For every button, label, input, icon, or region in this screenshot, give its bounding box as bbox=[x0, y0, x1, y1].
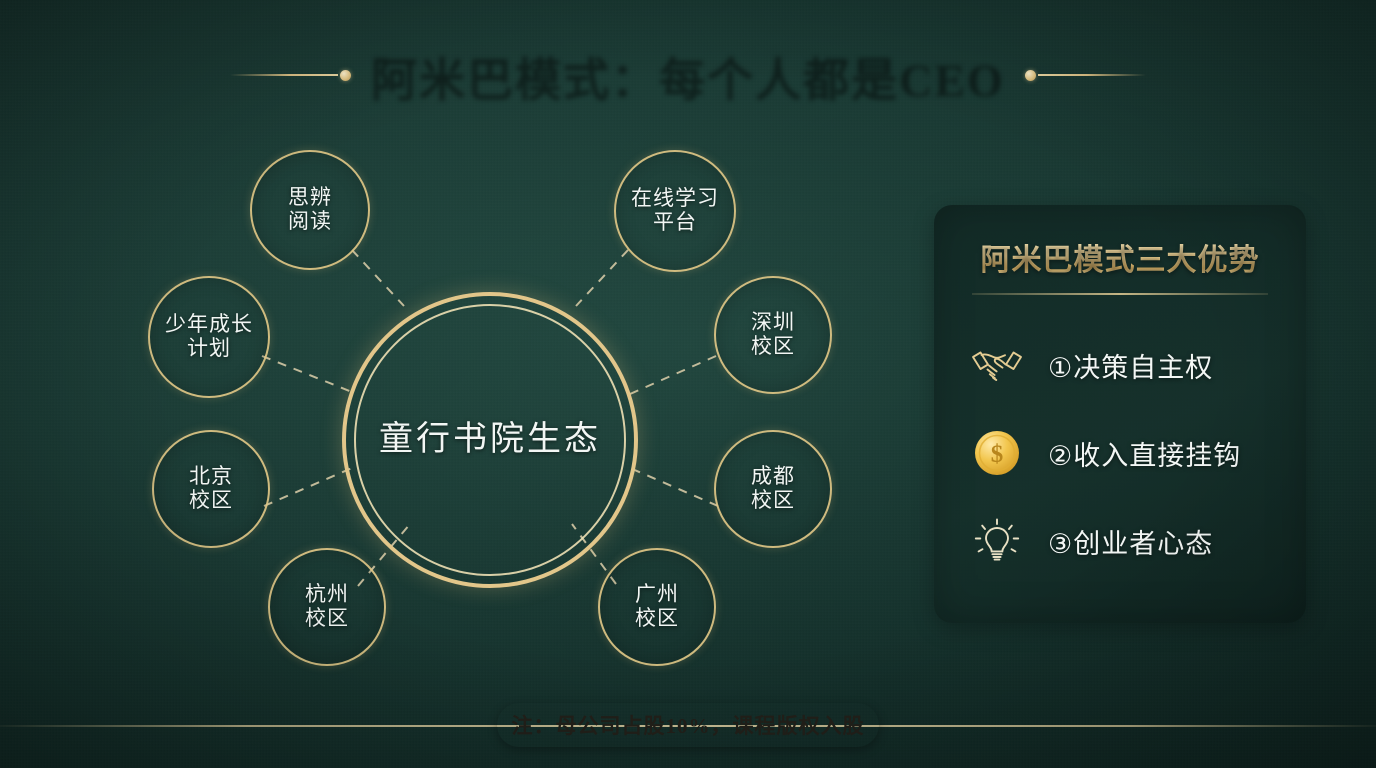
ecosystem-network-map: 童行书院生态 思辨 阅读 少年成长 计划 北京 校区 杭州 校区 广州 校区 成… bbox=[0, 110, 920, 690]
gold-coin-icon: $ bbox=[968, 424, 1026, 482]
decoration-dot-left bbox=[340, 70, 351, 81]
node-zaixian-pingtai[interactable]: 在线学习 平台 bbox=[614, 150, 736, 272]
advantage-label-3: ③创业者心态 bbox=[1048, 522, 1213, 561]
node-label-line1: 少年成长 bbox=[165, 313, 253, 337]
node-chengdu-xiaoqu[interactable]: 成都 校区 bbox=[714, 430, 832, 548]
advantages-list: ①决策自主权 $ bbox=[934, 321, 1306, 585]
node-label-line1: 成都 bbox=[751, 465, 795, 489]
advantage-label-2: ②收入直接挂钩 bbox=[1048, 434, 1241, 473]
footer-note-pill: 注：母公司占股10%，课程版权入股 bbox=[497, 703, 879, 747]
node-shenzhen-xiaoqu[interactable]: 深圳 校区 bbox=[714, 276, 832, 394]
panel-divider bbox=[972, 293, 1268, 295]
node-label-line2: 校区 bbox=[635, 607, 679, 631]
node-sibian-yuedu[interactable]: 思辨 阅读 bbox=[250, 150, 370, 270]
node-label-line1: 深圳 bbox=[751, 311, 795, 335]
node-label-line1: 杭州 bbox=[305, 583, 349, 607]
decoration-line-right bbox=[1038, 74, 1146, 76]
footer-note-text: 注：母公司占股10%，课程版权入股 bbox=[512, 710, 865, 740]
node-label-line2: 平台 bbox=[653, 211, 697, 235]
node-label-line1: 广州 bbox=[635, 583, 679, 607]
connector-beijing bbox=[264, 468, 352, 506]
connector-shaonian bbox=[262, 356, 352, 392]
lightbulb-icon bbox=[968, 512, 1026, 570]
connector-chengdu bbox=[630, 468, 718, 506]
title-decoration-left bbox=[230, 70, 353, 81]
svg-text:$: $ bbox=[991, 441, 1004, 468]
handshake-icon bbox=[968, 336, 1026, 394]
slide-title-row: 阿米巴模式：每个人都是CEO bbox=[0, 40, 1376, 110]
node-label-line2: 阅读 bbox=[288, 210, 332, 234]
hub-inner-ring bbox=[354, 304, 626, 576]
node-label-line1: 思辨 bbox=[288, 186, 332, 210]
advantages-panel-title: 阿米巴模式三大优势 bbox=[934, 235, 1306, 279]
decoration-line-left bbox=[230, 74, 338, 76]
node-label-line2: 计划 bbox=[187, 337, 231, 361]
title-decoration-right bbox=[1023, 70, 1146, 81]
connector-sibian bbox=[352, 250, 404, 306]
node-guangzhou-xiaoqu[interactable]: 广州 校区 bbox=[598, 548, 716, 666]
advantage-item-1[interactable]: ①决策自主权 bbox=[934, 321, 1306, 409]
node-beijing-xiaoqu[interactable]: 北京 校区 bbox=[152, 430, 270, 548]
node-label-line2: 校区 bbox=[189, 489, 233, 513]
node-shaonian-chengzhang[interactable]: 少年成长 计划 bbox=[148, 276, 270, 398]
hub-node-tongxing-ecosystem[interactable]: 童行书院生态 bbox=[342, 292, 638, 588]
connector-shenzhen bbox=[630, 356, 716, 394]
slide-canvas: 阿米巴模式：每个人都是CEO 童行书院生态 思辨 bbox=[0, 0, 1376, 768]
node-label-line1: 北京 bbox=[189, 465, 233, 489]
advantage-item-3[interactable]: ③创业者心态 bbox=[934, 497, 1306, 585]
node-label-line1: 在线学习 bbox=[631, 187, 719, 211]
slide-title: 阿米巴模式：每个人都是CEO bbox=[371, 42, 1005, 108]
node-label-line2: 校区 bbox=[751, 489, 795, 513]
advantage-item-2[interactable]: $ ②收入直接挂钩 bbox=[934, 409, 1306, 497]
node-label-line2: 校区 bbox=[751, 335, 795, 359]
decoration-dot-right bbox=[1025, 70, 1036, 81]
connector-zaixian bbox=[576, 250, 628, 306]
node-hangzhou-xiaoqu[interactable]: 杭州 校区 bbox=[268, 548, 386, 666]
advantages-panel: 阿米巴模式三大优势 ①决策自主权 bbox=[934, 205, 1306, 623]
node-label-line2: 校区 bbox=[305, 607, 349, 631]
advantage-label-1: ①决策自主权 bbox=[1048, 346, 1213, 385]
